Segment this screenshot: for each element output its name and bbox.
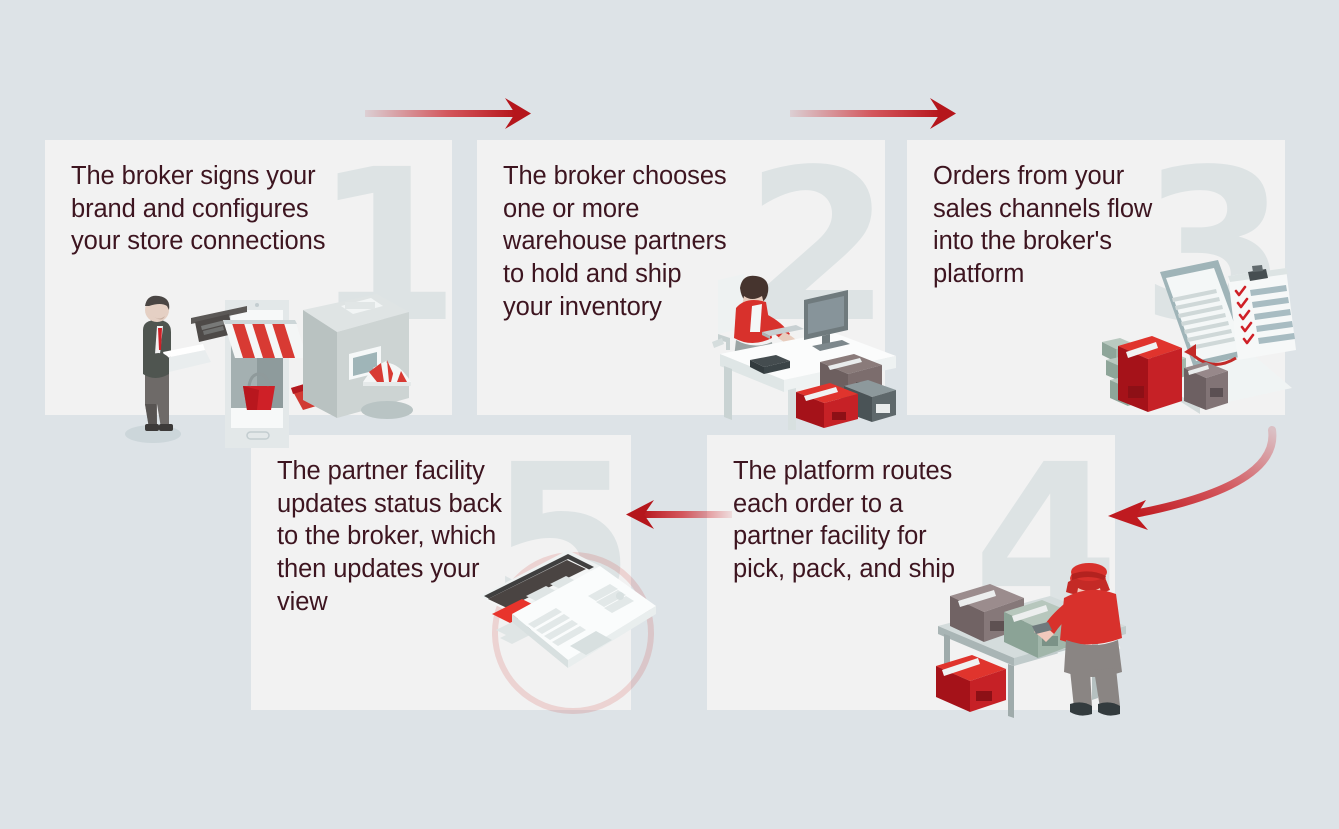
step-text-1: The broker signs your brand and configur… [71, 160, 336, 258]
step-number-watermark-4: 4 [973, 437, 1119, 647]
step-text-5: The partner facility updates status back… [277, 455, 527, 618]
arrow-step3-to-step4-curved [1090, 408, 1320, 543]
arrow-step1-to-step2 [365, 94, 550, 136]
step-card-2: 2 The broker chooses one or more warehou… [477, 140, 885, 415]
step-text-4: The platform routes each order to a part… [733, 455, 983, 586]
step-text-2: The broker chooses one or more warehouse… [503, 160, 768, 323]
infographic-canvas: 1 The broker signs your brand and config… [0, 0, 1339, 829]
step-card-5: 5 The partner facility updates status ba… [251, 435, 631, 710]
arrow-step2-to-step3 [790, 94, 975, 136]
step-text-3: Orders from your sales channels flow int… [933, 160, 1173, 291]
step-card-4: 4 The platform routes each order to a pa… [707, 435, 1115, 710]
step-card-1: 1 The broker signs your brand and config… [45, 140, 452, 415]
step-card-3: 3 Orders from your sales channels flow i… [907, 140, 1285, 415]
